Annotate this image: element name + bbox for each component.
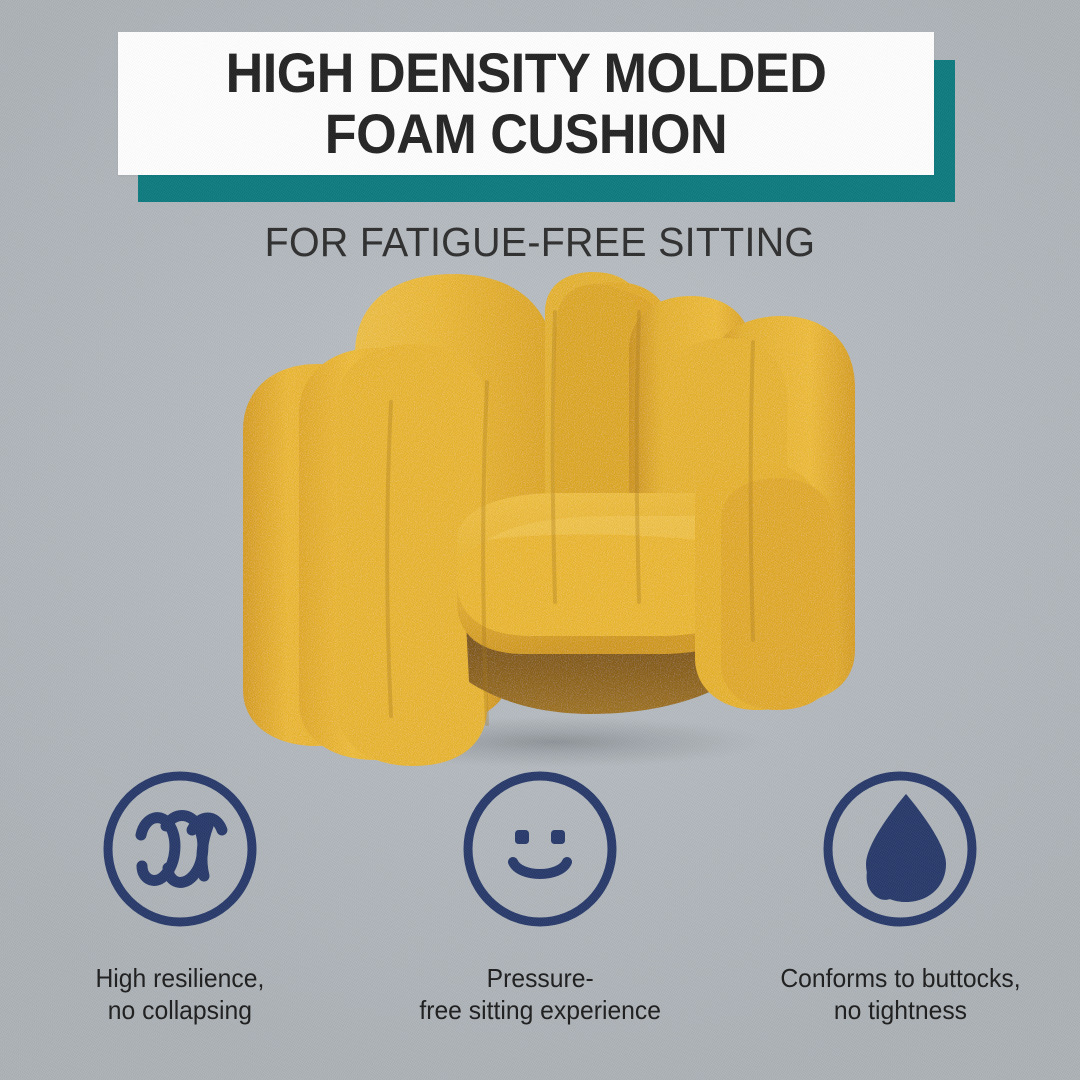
header: HIGH DENSITY MOLDED FOAM CUSHION FOR FAT… [0,0,1080,230]
armchair-illustration [225,272,865,772]
water-drop-icon [820,768,980,930]
spring-coil-icon [100,768,260,930]
page-title: HIGH DENSITY MOLDED FOAM CUSHION [226,43,827,164]
poster-canvas: HIGH DENSITY MOLDED FOAM CUSHION FOR FAT… [0,0,1080,1080]
product-image [225,272,865,772]
feature-caption: Pressure- free sitting experience [419,963,661,1026]
title-card: HIGH DENSITY MOLDED FOAM CUSHION [118,32,934,175]
feature-caption: High resilience, no collapsing [96,963,265,1026]
feature-caption: Conforms to buttocks, no tightness [780,963,1020,1026]
feature-item-conforms: Conforms to buttocks, no tightness [735,768,1065,1026]
feature-list: High resilience, no collapsing Pressure-… [0,768,1080,1048]
smiley-face-icon [460,768,620,930]
feature-item-pressure-free: Pressure- free sitting experience [375,768,705,1026]
feature-item-resilience: High resilience, no collapsing [15,768,345,1026]
page-subtitle: FOR FATIGUE-FREE SITTING [22,219,1059,266]
